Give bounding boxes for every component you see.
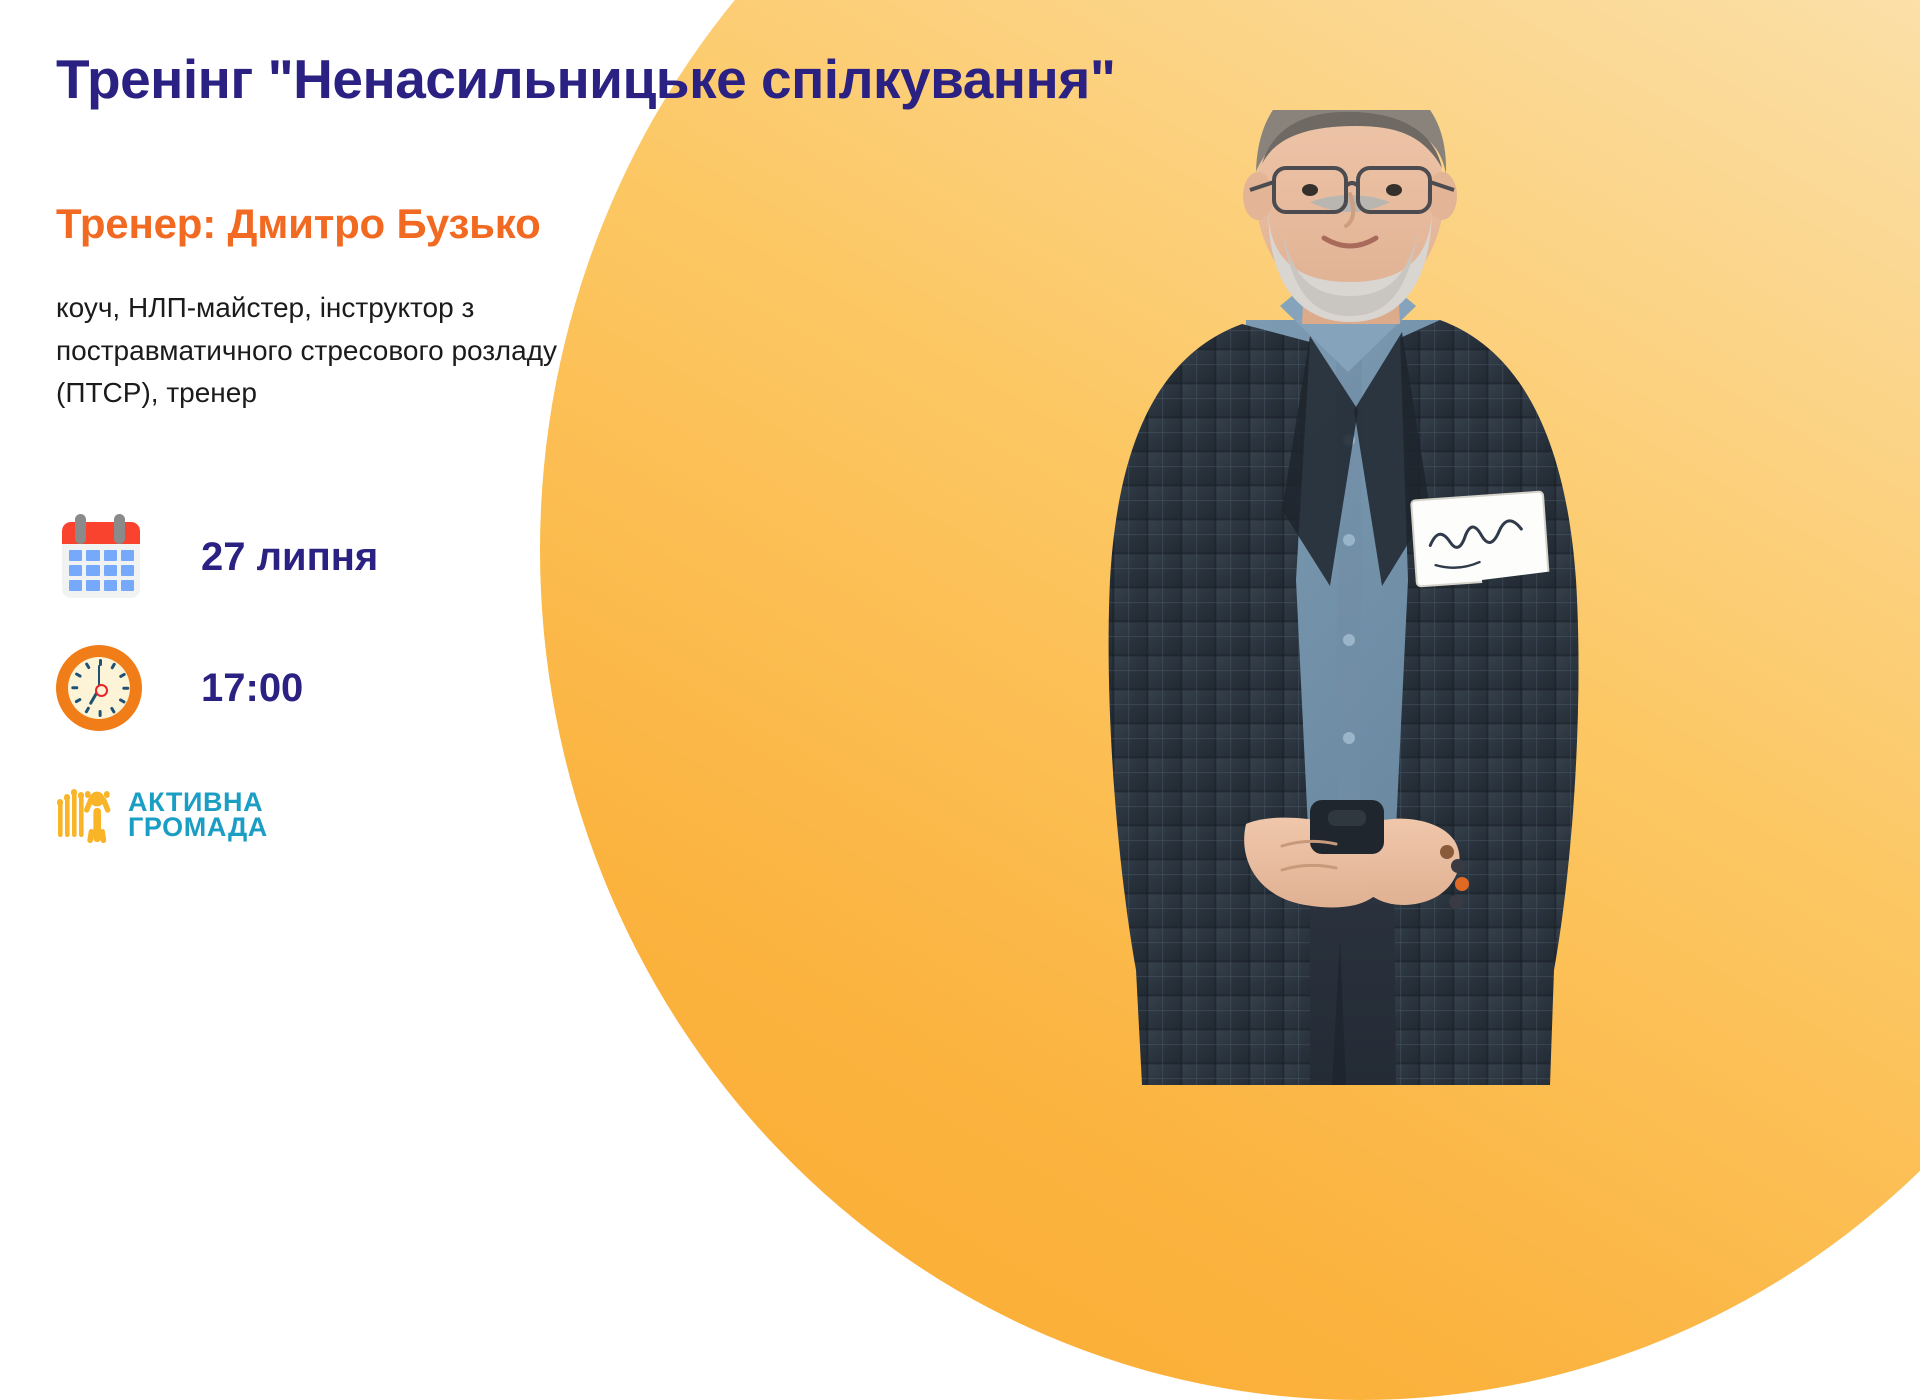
poster-content: Тренінг "Ненасильницьке спілкування" Тре…	[56, 0, 996, 1080]
calendar-ring-right	[114, 514, 125, 544]
calendar-icon-box	[56, 514, 156, 600]
calendar-body	[62, 522, 140, 598]
event-time-value: 17:00	[201, 666, 303, 711]
calendar-ring-left	[75, 514, 86, 544]
event-date-row: 27 липня	[56, 514, 378, 600]
calendar-grid	[62, 544, 140, 591]
calendar-icon	[56, 514, 144, 600]
event-time-row: 17:00	[56, 645, 303, 731]
clock-tick	[119, 698, 126, 704]
activna-gromada-people-icon	[56, 785, 118, 845]
calendar-cell	[69, 550, 82, 561]
calendar-cell	[86, 550, 99, 561]
clock-tick	[71, 687, 78, 690]
clock-tick	[85, 706, 91, 713]
event-date-value: 27 липня	[201, 535, 378, 580]
clock-face	[68, 657, 130, 719]
clock-tick	[110, 706, 116, 713]
calendar-cell	[104, 550, 117, 561]
speaker-photo	[1010, 110, 1670, 1085]
calendar-header	[62, 522, 140, 544]
calendar-cell	[86, 565, 99, 576]
clock-tick	[110, 662, 116, 669]
calendar-cell	[104, 565, 117, 576]
calendar-cell	[86, 580, 99, 591]
clock-icon-box	[56, 645, 156, 731]
calendar-cell	[104, 580, 117, 591]
clock-tick	[75, 672, 82, 678]
clock-tick	[75, 698, 82, 704]
clock-center-pin	[95, 684, 108, 697]
clock-tick	[119, 672, 126, 678]
calendar-cell	[121, 550, 134, 561]
clock-tick	[122, 687, 129, 690]
clock-tick	[99, 710, 102, 717]
trainer-bio: коуч, НЛП-майстер, інструктор з постравм…	[56, 287, 656, 415]
calendar-cell	[121, 580, 134, 591]
clock-icon	[56, 645, 142, 731]
calendar-cell	[121, 565, 134, 576]
trainer-name: Тренер: Дмитро Бузько	[56, 200, 541, 248]
organization-logo: АКТИВНА ГРОМАДА	[56, 785, 268, 845]
calendar-cell	[69, 565, 82, 576]
logo-line-2: ГРОМАДА	[128, 815, 268, 840]
speaker-illustration	[1010, 110, 1670, 1085]
page-title: Тренінг "Ненасильницьке спілкування"	[56, 50, 1156, 109]
logo-wordmark: АКТИВНА ГРОМАДА	[128, 790, 268, 840]
clock-tick	[85, 662, 91, 669]
calendar-cell	[69, 580, 82, 591]
